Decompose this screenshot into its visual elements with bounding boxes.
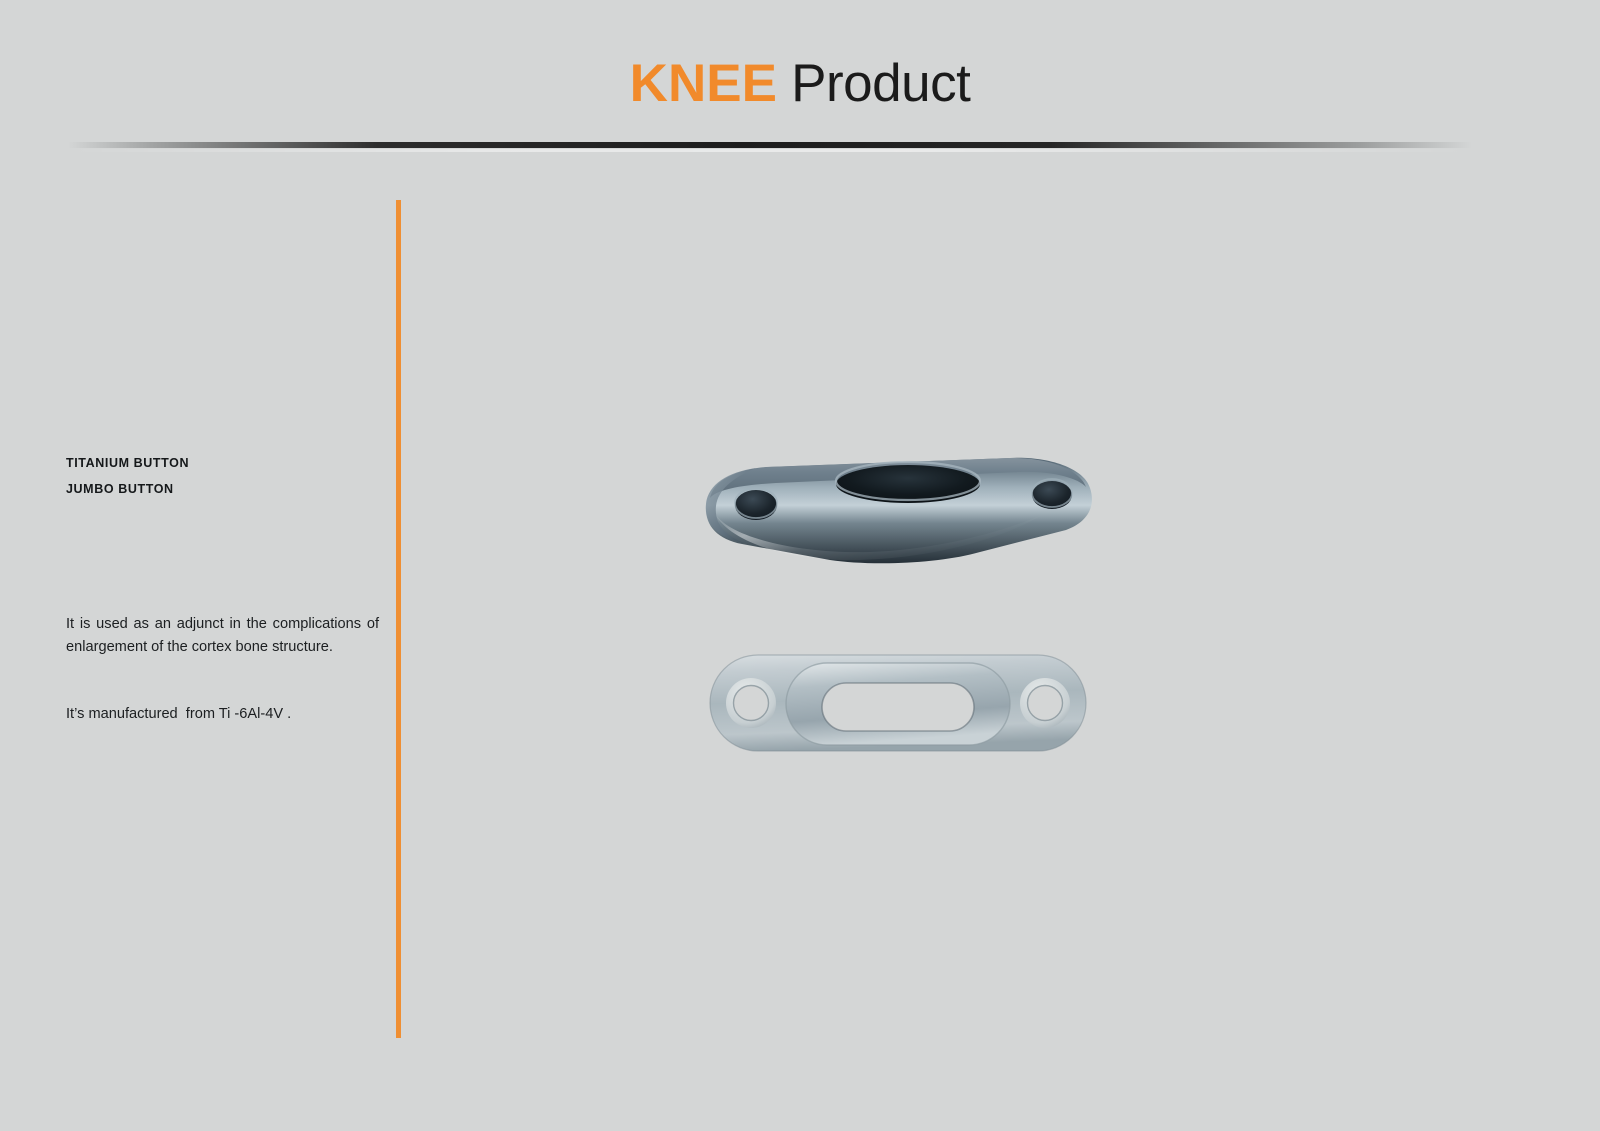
description-paragraph: It is used as an adjunct in the complica… [66, 613, 379, 658]
spec-label-jumbo-button: JUMBO BUTTON [66, 476, 386, 502]
title-divider-highlight [68, 149, 1472, 152]
description-block: It is used as an adjunct in the complica… [66, 613, 379, 726]
button-hole-left [735, 490, 777, 520]
page-title-brand: KNEE [630, 54, 777, 113]
spec-label-titanium-button: TITANIUM BUTTON [66, 450, 386, 476]
button-hole-right [1032, 481, 1072, 509]
page-title-rest: Product [777, 54, 970, 113]
plate-center-slot [822, 683, 974, 731]
spec-label-list: TITANIUM BUTTON JUMBO BUTTON [66, 450, 386, 502]
titanium-button-topdown-image [698, 635, 1098, 765]
page-title: KNEE Product [0, 52, 1600, 116]
accent-vertical-rule [396, 200, 401, 1038]
button-center-slot [836, 465, 980, 503]
material-paragraph: It’s manufactured from Ti -6Al-4V . [66, 703, 379, 726]
titanium-button-perspective-image [680, 440, 1120, 580]
product-figure: Titanium button, perspective view [640, 420, 1200, 820]
title-divider [68, 142, 1472, 148]
